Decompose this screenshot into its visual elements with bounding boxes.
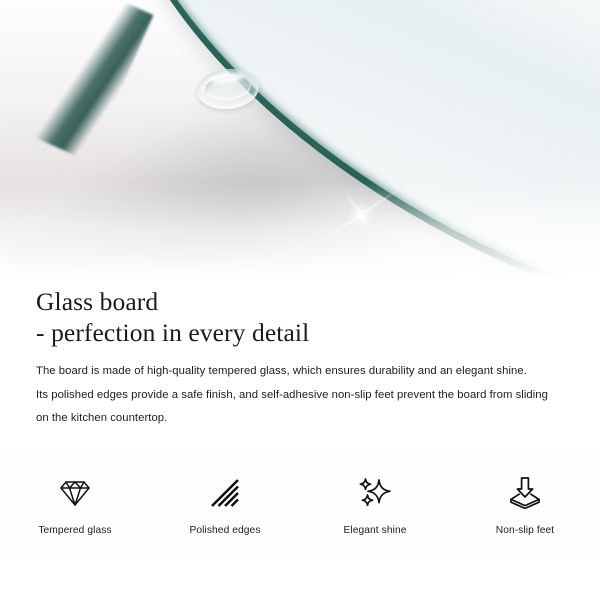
- diagonal-lines-icon: [203, 471, 247, 515]
- feature-item-elegant-shine: Elegant shine: [300, 455, 450, 555]
- feature-item-polished-edges: Polished edges: [150, 455, 300, 555]
- page-title: Glass board - perfection in every detail: [0, 278, 600, 348]
- sparkle-icon: [353, 471, 397, 515]
- description-line-3: on the kitchen countertop.: [36, 407, 564, 431]
- product-feature-banner: Glass board - perfection in every detail…: [0, 0, 600, 600]
- photo-white-fade: [0, 182, 600, 278]
- feature-label: Elegant shine: [343, 524, 406, 537]
- headline-line-2: - perfection in every detail: [36, 317, 600, 348]
- feature-label: Non-slip feet: [496, 524, 555, 537]
- text-content: Glass board - perfection in every detail…: [0, 278, 600, 431]
- description-line-1: The board is made of high-quality temper…: [36, 360, 564, 384]
- hero-product-photo: [0, 0, 600, 278]
- press-down-pad-icon: [503, 471, 547, 515]
- feature-item-tempered-glass: Tempered glass: [0, 455, 150, 555]
- feature-strip: Tempered glass Polished edges: [0, 455, 600, 555]
- feature-item-non-slip-feet: Non-slip feet: [450, 455, 600, 555]
- feature-label: Polished edges: [189, 524, 260, 537]
- description-line-2: Its polished edges provide a safe finish…: [36, 384, 564, 408]
- headline-line-1: Glass board: [36, 287, 158, 316]
- feature-label: Tempered glass: [38, 524, 111, 537]
- diamond-icon: [53, 471, 97, 515]
- product-description: The board is made of high-quality temper…: [0, 348, 600, 431]
